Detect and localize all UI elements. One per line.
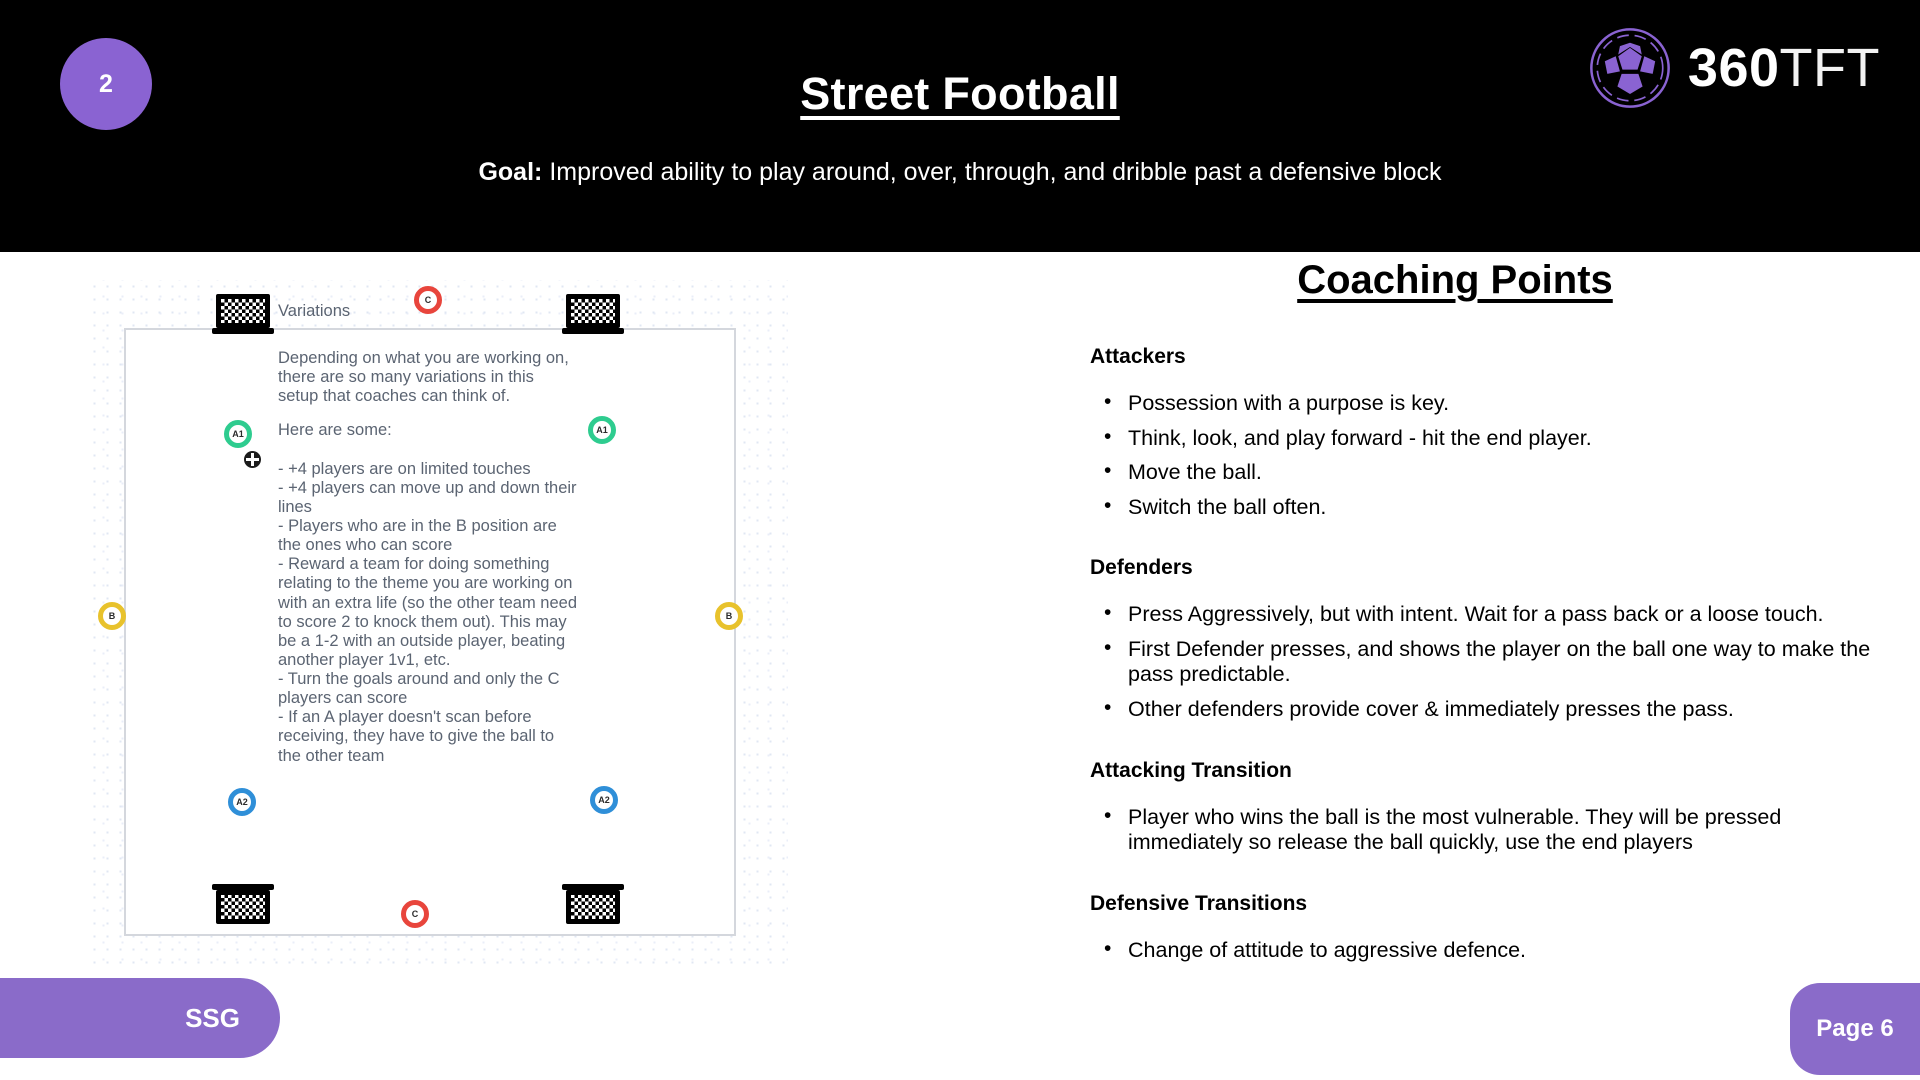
coaching-point: Press Aggressively, but with intent. Wai… bbox=[1096, 602, 1900, 628]
goal-text: Improved ability to play around, over, t… bbox=[549, 158, 1441, 186]
marker-a1-left: A1 bbox=[224, 420, 252, 448]
notes-bullet: - +4 players can move up and down their … bbox=[278, 479, 578, 517]
page-number-label: Page 6 bbox=[1816, 1015, 1893, 1043]
marker-b-right: B bbox=[715, 602, 743, 630]
section-heading: Attacking Transition bbox=[1090, 759, 1900, 783]
brand-logo: 360TFT bbox=[1588, 26, 1880, 110]
coaching-point: Switch the ball often. bbox=[1096, 495, 1900, 521]
section-point-list: Change of attitude to aggressive defence… bbox=[1096, 938, 1900, 964]
marker-label: A2 bbox=[598, 795, 610, 805]
goal-bottom-right bbox=[566, 890, 620, 924]
diagram-notes: Variations Depending on what you are wor… bbox=[278, 302, 578, 766]
ssg-badge: SSG bbox=[0, 978, 280, 1058]
marker-label: A1 bbox=[596, 425, 608, 435]
section-heading: Attackers bbox=[1090, 345, 1900, 369]
notes-bullet: - Reward a team for doing something rela… bbox=[278, 555, 578, 670]
section-point-list: Press Aggressively, but with intent. Wai… bbox=[1096, 602, 1900, 722]
goal-bottom-left bbox=[216, 890, 270, 924]
section-heading: Defensive Transitions bbox=[1090, 892, 1900, 916]
goal-base bbox=[562, 884, 624, 890]
coaching-points-title: Coaching Points bbox=[1010, 258, 1900, 303]
coaching-point: Possession with a purpose is key. bbox=[1096, 391, 1900, 417]
goal-statement: Goal: Improved ability to play around, o… bbox=[0, 158, 1920, 187]
slide-header: 2 Street Football Goal: Improved ability… bbox=[0, 0, 1920, 252]
ssg-label: SSG bbox=[185, 1003, 240, 1034]
soccer-ball-icon bbox=[244, 451, 261, 468]
session-diagram: C C A1 A1 A2 A2 B B Variations Depending… bbox=[88, 280, 788, 970]
brand-wordmark: 360TFT bbox=[1688, 41, 1880, 95]
goal-net-icon bbox=[566, 890, 620, 924]
coaching-section-attackers: Attackers Possession with a purpose is k… bbox=[1030, 345, 1900, 520]
marker-c-bottom: C bbox=[401, 900, 429, 928]
goal-label: Goal: bbox=[478, 158, 542, 186]
coaching-point: Change of attitude to aggressive defence… bbox=[1096, 938, 1900, 964]
coaching-point: Move the ball. bbox=[1096, 460, 1900, 486]
coaching-point: Think, look, and play forward - hit the … bbox=[1096, 426, 1900, 452]
coaching-points-panel: Coaching Points Attackers Possession wit… bbox=[1030, 258, 1900, 999]
notes-paragraph-1: Depending on what you are working on, th… bbox=[278, 349, 578, 406]
soccer-ball-icon bbox=[1588, 26, 1672, 110]
coaching-point: Other defenders provide cover & immediat… bbox=[1096, 697, 1900, 723]
goal-base bbox=[212, 884, 274, 890]
coaching-section-defensive-transitions: Defensive Transitions Change of attitude… bbox=[1030, 892, 1900, 964]
goal-top-left bbox=[216, 294, 270, 328]
coaching-point: First Defender presses, and shows the pl… bbox=[1096, 637, 1900, 688]
marker-label: B bbox=[109, 611, 116, 621]
goal-net-icon bbox=[216, 890, 270, 924]
page-title: Street Football bbox=[800, 68, 1120, 120]
slide-page: 2 Street Football Goal: Improved ability… bbox=[0, 0, 1920, 1080]
section-point-list: Possession with a purpose is key. Think,… bbox=[1096, 391, 1900, 520]
notes-bullet: - Turn the goals around and only the C p… bbox=[278, 670, 578, 708]
marker-label: B bbox=[726, 611, 733, 621]
marker-b-left: B bbox=[98, 602, 126, 630]
goal-base bbox=[212, 328, 274, 334]
notes-bullet-list: - +4 players are on limited touches - +4… bbox=[278, 460, 578, 766]
notes-bullet: - +4 players are on limited touches bbox=[278, 460, 578, 479]
page-number-badge: Page 6 bbox=[1790, 983, 1920, 1075]
notes-heading: Variations bbox=[278, 302, 578, 321]
notes-bullet: - If an A player doesn't scan before rec… bbox=[278, 708, 578, 765]
coaching-point: Player who wins the ball is the most vul… bbox=[1096, 805, 1900, 856]
goal-net-icon bbox=[216, 294, 270, 328]
section-point-list: Player who wins the ball is the most vul… bbox=[1096, 805, 1900, 856]
marker-a1-right: A1 bbox=[588, 416, 616, 444]
notes-bullet: - Players who are in the B position are … bbox=[278, 517, 578, 555]
marker-a2-right: A2 bbox=[590, 786, 618, 814]
marker-label: A1 bbox=[232, 429, 244, 439]
brand-360: 360 bbox=[1688, 38, 1780, 98]
notes-paragraph-2: Here are some: bbox=[278, 421, 578, 440]
marker-label: A2 bbox=[236, 797, 248, 807]
marker-a2-left: A2 bbox=[228, 788, 256, 816]
section-heading: Defenders bbox=[1090, 556, 1900, 580]
brand-tft: TFT bbox=[1780, 38, 1880, 98]
coaching-section-attacking-transition: Attacking Transition Player who wins the… bbox=[1030, 759, 1900, 856]
marker-label: C bbox=[412, 909, 419, 919]
coaching-section-defenders: Defenders Press Aggressively, but with i… bbox=[1030, 556, 1900, 722]
